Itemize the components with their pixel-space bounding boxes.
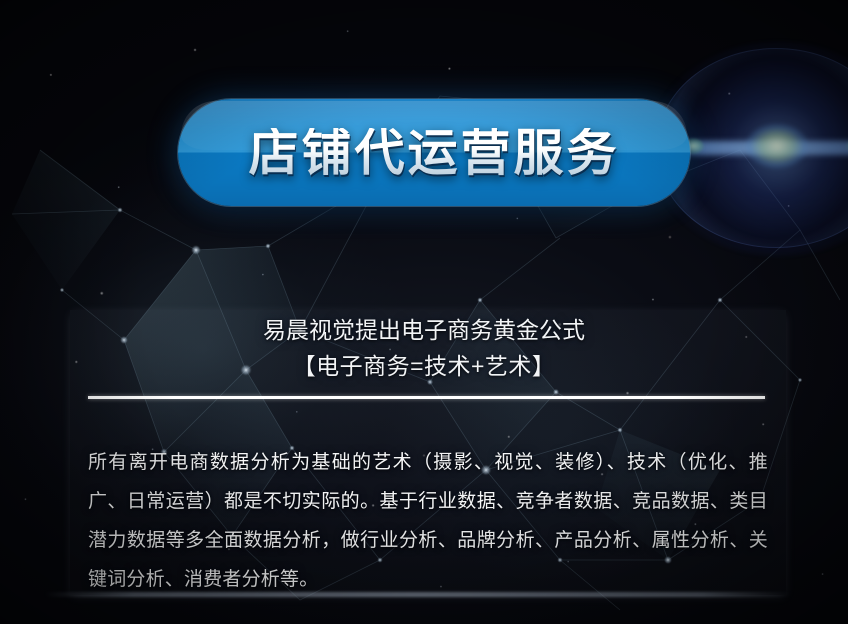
subtitle-block: 易晨视觉提出电子商务黄金公式 【电子商务=技术+艺术】 [0, 312, 848, 384]
subtitle-line-2: 【电子商务=技术+艺术】 [0, 348, 848, 384]
banner-title: 店铺代运营服务 [249, 128, 620, 178]
banner-title-pill: 店铺代运营服务 [178, 99, 690, 206]
subtitle-line-1: 易晨视觉提出电子商务黄金公式 [263, 317, 585, 343]
body-paragraph: 所有离开电商数据分析为基础的艺术（摄影、视觉、装修）、技术（优化、推广、日常运营… [88, 443, 768, 599]
promo-banner: 店铺代运营服务 易晨视觉提出电子商务黄金公式 【电子商务=技术+艺术】 所有离开… [0, 0, 848, 624]
horizontal-divider [88, 396, 765, 399]
